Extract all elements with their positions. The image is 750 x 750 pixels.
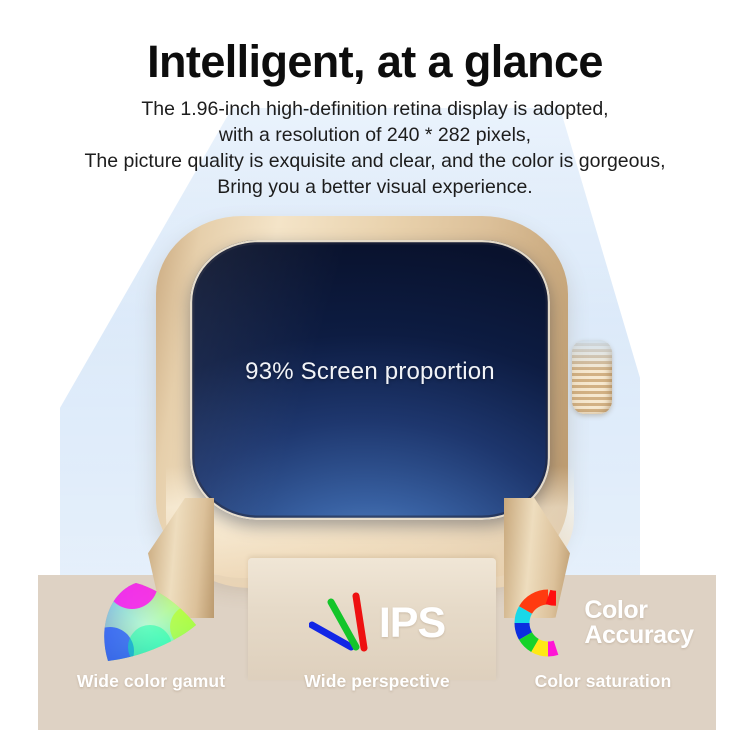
feature-label-perspective: Wide perspective	[304, 671, 449, 692]
product-feature-page: Intelligent, at a glance The 1.96-inch h…	[0, 0, 750, 750]
feature-color-saturation: Color Accuracy Color saturation	[490, 575, 716, 730]
subtitle-line-4: Bring you a better visual experience.	[0, 174, 750, 200]
color-accuracy-logo-text: Color Accuracy	[584, 598, 693, 648]
subtitle-line-1: The 1.96-inch high-definition retina dis…	[0, 96, 750, 122]
watch-screen: 93% Screen proportion	[190, 240, 550, 520]
feature-label-gamut: Wide color gamut	[77, 671, 225, 692]
subtitle-block: The 1.96-inch high-definition retina dis…	[0, 96, 750, 200]
color-accuracy-line-1: Color	[584, 598, 693, 623]
subtitle-line-2: with a resolution of 240 * 282 pixels,	[0, 122, 750, 148]
feature-wide-color-gamut: Wide color gamut	[38, 575, 264, 730]
ips-rays-icon	[309, 592, 377, 654]
smartwatch-product-image: 93% Screen proportion	[148, 206, 608, 626]
ips-logo-text: IPS	[379, 602, 445, 645]
gamut-fill	[92, 577, 210, 669]
feature-label-saturation: Color saturation	[535, 671, 672, 692]
watch-crown[interactable]	[572, 340, 612, 414]
feature-wide-perspective: IPS Wide perspective	[264, 575, 490, 730]
feature-list: Wide color gamut IPS Wide perspective	[38, 575, 716, 730]
subtitle-line-3: The picture quality is exquisite and cle…	[0, 148, 750, 174]
feature-art-ips: IPS	[264, 575, 490, 671]
feature-art-accuracy: Color Accuracy	[490, 575, 716, 671]
screen-proportion-label: 93% Screen proportion	[190, 358, 550, 386]
color-gamut-triangle-icon	[92, 577, 210, 669]
color-wheel-icon	[512, 583, 578, 663]
color-accuracy-line-2: Accuracy	[584, 623, 693, 648]
page-title: Intelligent, at a glance	[0, 38, 750, 85]
feature-art-gamut	[38, 575, 264, 671]
